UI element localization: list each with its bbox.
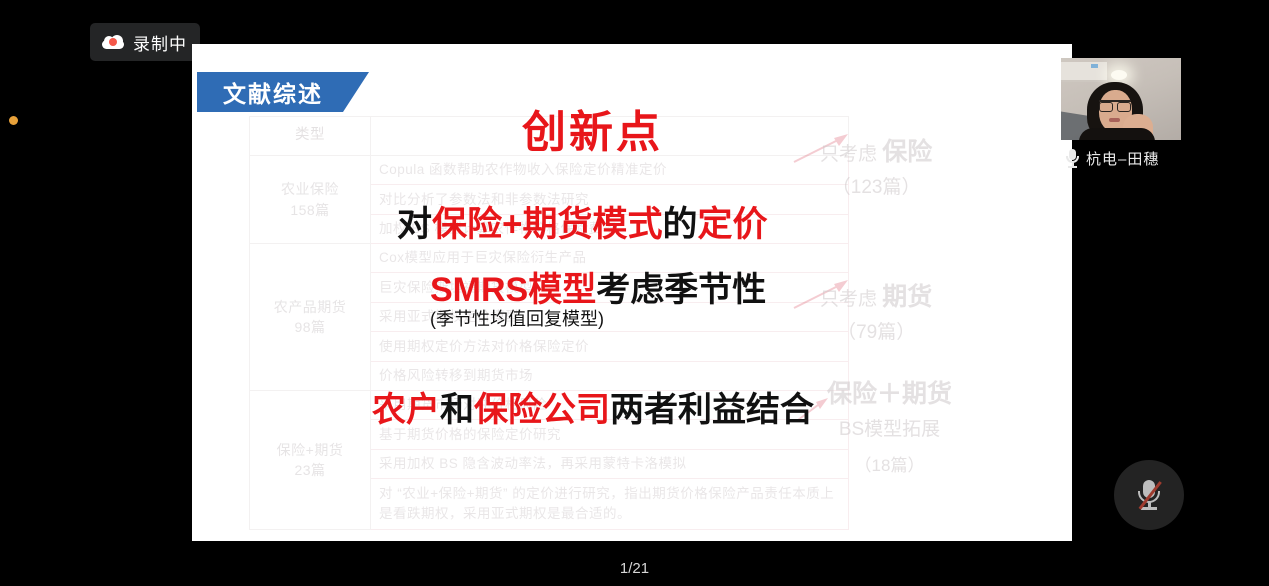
overlay-title: 创新点 [522, 96, 663, 160]
overlay-point-1: 对保险+期货模式的定价 [397, 196, 768, 247]
overlay-segment: 保险+期货模式 [432, 205, 662, 244]
annotation-keyword: 保险＋期货 [827, 380, 952, 408]
mute-toggle-button[interactable] [1114, 460, 1184, 530]
overlay-segment: 考虑季节性 [596, 271, 766, 309]
overlay-segment: 两者利益结合 [610, 391, 814, 429]
cloud-record-icon [102, 35, 124, 49]
annotation-model: BS模型拓展 [827, 414, 952, 441]
page-indicator: 1/21 [0, 560, 1269, 577]
table-cell-type: 农产品期货98篇 [250, 244, 371, 391]
overlay-segment: 对 [397, 205, 432, 244]
participant-name-badge: 杭电–田穗 [1066, 148, 1159, 169]
annotation-count: （79篇） [820, 317, 932, 344]
annotation-keyword: 保险 [882, 138, 932, 166]
overlay-segment: 定价 [697, 205, 767, 244]
annotation-keyword: 期货 [882, 283, 932, 311]
recording-indicator: 录制中 [90, 23, 200, 61]
annotation-futures-only: 只考虑 期货 （79篇） [820, 277, 932, 344]
meeting-screen-share-view: 录制中 文献综述 类型农业保险158篇Copula 函数帮助农作物收入保险定价精… [0, 0, 1269, 586]
orange-bullet-marker [9, 116, 18, 125]
participant-video-tile[interactable] [1061, 58, 1181, 140]
annotation-count: （123篇） [820, 172, 932, 199]
annotation-insurance-plus-futures: 保险＋期货 BS模型拓展 （18篇） [827, 374, 952, 476]
overlay-segment: SMRS模型 [430, 271, 596, 309]
overlay-point-2-subtitle: (季节性均值回复模型) [430, 305, 604, 331]
microphone-icon [1066, 149, 1079, 168]
annotation-lead: 只考虑 [820, 289, 882, 310]
slide-section-title: 文献综述 [223, 75, 323, 109]
table-cell-type: 农业保险158篇 [250, 156, 371, 244]
shared-slide: 文献综述 类型农业保险158篇Copula 函数帮助农作物收入保险定价精准定价对… [192, 44, 1072, 541]
overlay-segment: 农户 [372, 391, 440, 429]
overlay-segment: 的 [662, 205, 697, 244]
annotation-lead: 只考虑 [820, 144, 882, 165]
overlay-point-2: SMRS模型考虑季节性 [430, 262, 766, 311]
table-cell-type: 保险+期货23篇 [250, 390, 371, 529]
microphone-muted-icon [1138, 480, 1160, 510]
recording-label: 录制中 [133, 30, 187, 55]
table-cell-description: 对 “农业+保险+期货” 的定价进行研究，指出期货价格保险产品责任本质上是看跌期… [371, 478, 849, 529]
table-header-type: 类型 [250, 117, 371, 156]
overlay-point-3: 农户和保险公司两者利益结合 [372, 382, 814, 431]
overlay-segment: 保险公司 [474, 391, 610, 429]
slide-section-banner: 文献综述 [197, 72, 369, 112]
participant-name: 杭电–田穗 [1086, 148, 1159, 169]
table-cell-description: 使用期权定价方法对价格保险定价 [371, 332, 849, 361]
overlay-segment: 和 [440, 391, 474, 429]
annotation-insurance-only: 只考虑 保险 （123篇） [820, 132, 932, 199]
table-cell-description: 采用加权 BS 隐含波动率法，再采用蒙特卡洛模拟 [371, 449, 849, 478]
annotation-count: （18篇） [827, 451, 952, 476]
